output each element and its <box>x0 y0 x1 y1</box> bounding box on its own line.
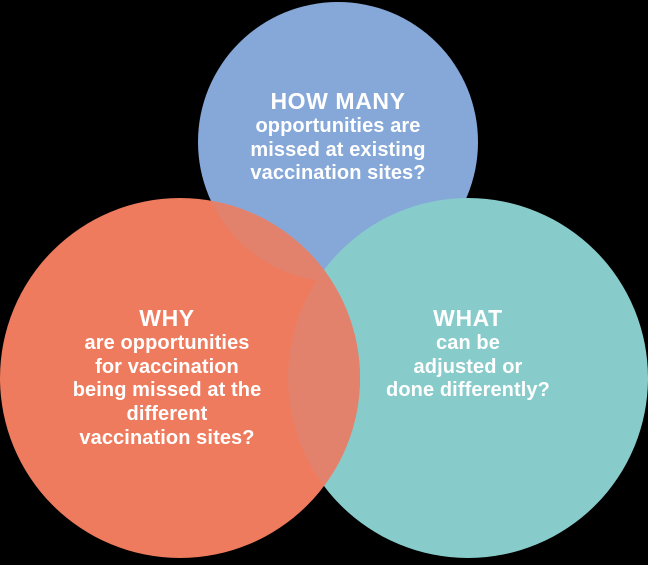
how-many-heading: HOW MANY <box>204 88 472 115</box>
what-line-3: done differently? <box>348 379 588 403</box>
why-label: WHY are opportunities for vaccination be… <box>36 305 298 450</box>
how-many-line-1: opportunities are <box>204 115 472 139</box>
what-line-2: adjusted or <box>348 356 588 380</box>
what-heading: WHAT <box>348 305 588 332</box>
why-line-5: vaccination sites? <box>36 427 298 451</box>
why-line-2: for vaccination <box>36 356 298 380</box>
how-many-line-3: vaccination sites? <box>204 162 472 186</box>
why-body: are opportunities for vaccination being … <box>36 332 298 450</box>
why-line-3: being missed at the <box>36 379 298 403</box>
why-line-1: are opportunities <box>36 332 298 356</box>
how-many-line-2: missed at existing <box>204 139 472 163</box>
how-many-body: opportunities are missed at existing vac… <box>204 115 472 186</box>
what-line-1: can be <box>348 332 588 356</box>
venn-circles-graphic <box>0 0 648 565</box>
venn-diagram: HOW MANY opportunities are missed at exi… <box>0 0 648 565</box>
why-line-4: different <box>36 403 298 427</box>
why-heading: WHY <box>36 305 298 332</box>
how-many-label: HOW MANY opportunities are missed at exi… <box>204 88 472 186</box>
what-body: can be adjusted or done differently? <box>348 332 588 403</box>
what-label: WHAT can be adjusted or done differently… <box>348 305 588 403</box>
